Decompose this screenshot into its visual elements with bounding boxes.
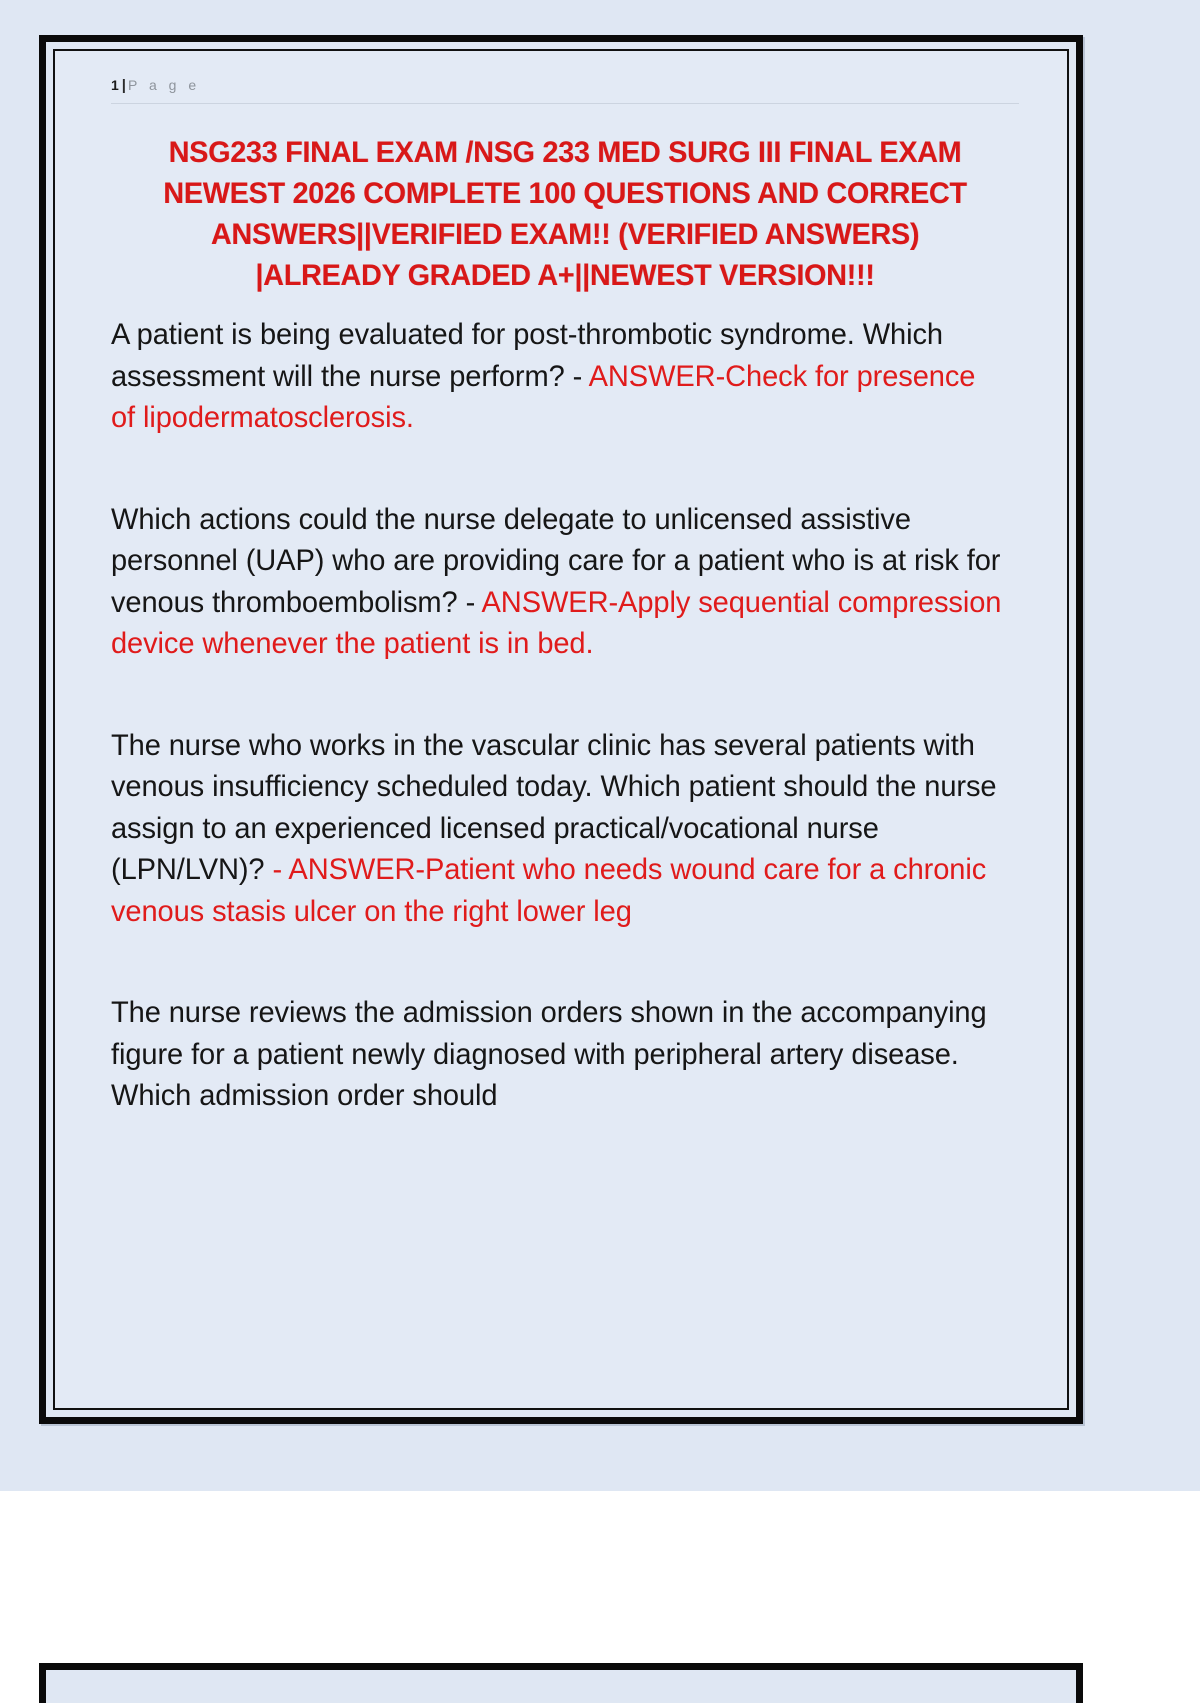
page-title: NSG233 FINAL EXAM /NSG 233 MED SURG III … xyxy=(129,132,1001,296)
question-answer-block-2: Which actions could the nurse delegate t… xyxy=(111,499,1005,665)
header-page-word: P a g e xyxy=(128,77,200,93)
question-text-4: The nurse reviews the admission orders s… xyxy=(111,996,987,1112)
page-1-content: 1|P a g e NSG233 FINAL EXAM /NSG 233 MED… xyxy=(55,51,1067,1408)
header-page-number: 1 xyxy=(111,77,120,93)
page-1-sheet: 1|P a g e NSG233 FINAL EXAM /NSG 233 MED… xyxy=(39,35,1083,1424)
page-1-inner-border: 1|P a g e NSG233 FINAL EXAM /NSG 233 MED… xyxy=(53,49,1069,1410)
page-2-sheet-partial xyxy=(39,1663,1083,1703)
question-answer-block-4: The nurse reviews the admission orders s… xyxy=(111,992,1005,1117)
question-answer-block-1: A patient is being evaluated for post-th… xyxy=(111,314,1005,439)
running-header: 1|P a g e xyxy=(111,77,1019,104)
header-separator: | xyxy=(122,77,126,94)
question-answer-block-3: The nurse who works in the vascular clin… xyxy=(111,725,1005,933)
